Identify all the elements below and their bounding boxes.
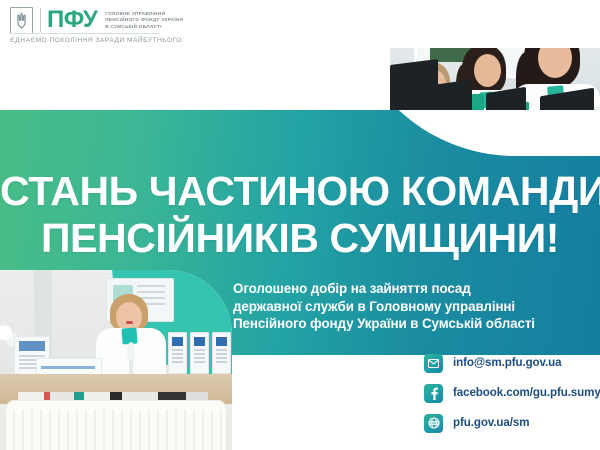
logo-divider bbox=[40, 8, 41, 32]
photo-lamp bbox=[126, 342, 136, 378]
announcement-text: Оголошено добір на зайняття посад держав… bbox=[233, 280, 593, 333]
organization-name: ГОЛОВНЕ УПРАВЛІННЯ ПЕНСІЙНОГО ФОНДУ УКРА… bbox=[105, 10, 183, 30]
photo-bench bbox=[6, 400, 226, 450]
headline-line-1: СТАНЬ ЧАСТИНОЮ КОМАНДИ bbox=[0, 168, 600, 215]
header: ПФУ ГОЛОВНЕ УПРАВЛІННЯ ПЕНСІЙНОГО ФОНДУ … bbox=[0, 0, 600, 48]
announcement-line-3: Пенсійного фонду України в Сумській обла… bbox=[233, 315, 593, 333]
contact-row-facebook[interactable]: facebook.com/gu.pfu.sumy bbox=[424, 382, 600, 404]
brand-tagline: ЄДНАЄМО ПОКОЛІННЯ ЗАРАДИ МАЙБУТНЬОГО bbox=[10, 36, 182, 45]
headline-line-2: ПЕНСІЙНИКІВ СУМЩИНИ! bbox=[0, 215, 600, 262]
contact-row-website[interactable]: pfu.gov.ua/sm bbox=[424, 412, 600, 434]
brand-abbreviation: ПФУ bbox=[47, 8, 97, 32]
ukraine-trident-icon bbox=[10, 7, 33, 34]
globe-icon bbox=[424, 414, 443, 433]
facebook-icon bbox=[424, 384, 443, 403]
announcement-line-1: Оголошено добір на зайняття посад bbox=[233, 280, 593, 298]
contact-row-email[interactable]: info@sm.pfu.gov.ua bbox=[424, 352, 600, 374]
photo-leaflets bbox=[168, 332, 232, 378]
headline: СТАНЬ ЧАСТИНОЮ КОМАНДИ ПЕНСІЙНИКІВ СУМЩИ… bbox=[0, 168, 600, 262]
logo: ПФУ ГОЛОВНЕ УПРАВЛІННЯ ПЕНСІЙНОГО ФОНДУ … bbox=[10, 7, 183, 33]
announcement-line-2: державної служби в Головному управлінні bbox=[233, 298, 593, 316]
contact-email-value: info@sm.pfu.gov.ua bbox=[453, 356, 561, 370]
contact-list: info@sm.pfu.gov.ua facebook.com/gu.pfu.s… bbox=[424, 352, 600, 442]
email-icon bbox=[424, 354, 443, 373]
org-line-3: В СУМСЬКІЙ ОБЛАСТІ bbox=[105, 24, 183, 30]
tagline-divider bbox=[10, 33, 160, 34]
band-corner-curve bbox=[385, 110, 600, 156]
contact-facebook-value: facebook.com/gu.pfu.sumy bbox=[453, 386, 600, 400]
recruitment-poster: ПФУ ГОЛОВНЕ УПРАВЛІННЯ ПЕНСІЙНОГО ФОНДУ … bbox=[0, 0, 600, 450]
reception-desk-photo bbox=[0, 270, 232, 450]
contact-website-value: pfu.gov.ua/sm bbox=[453, 416, 529, 430]
